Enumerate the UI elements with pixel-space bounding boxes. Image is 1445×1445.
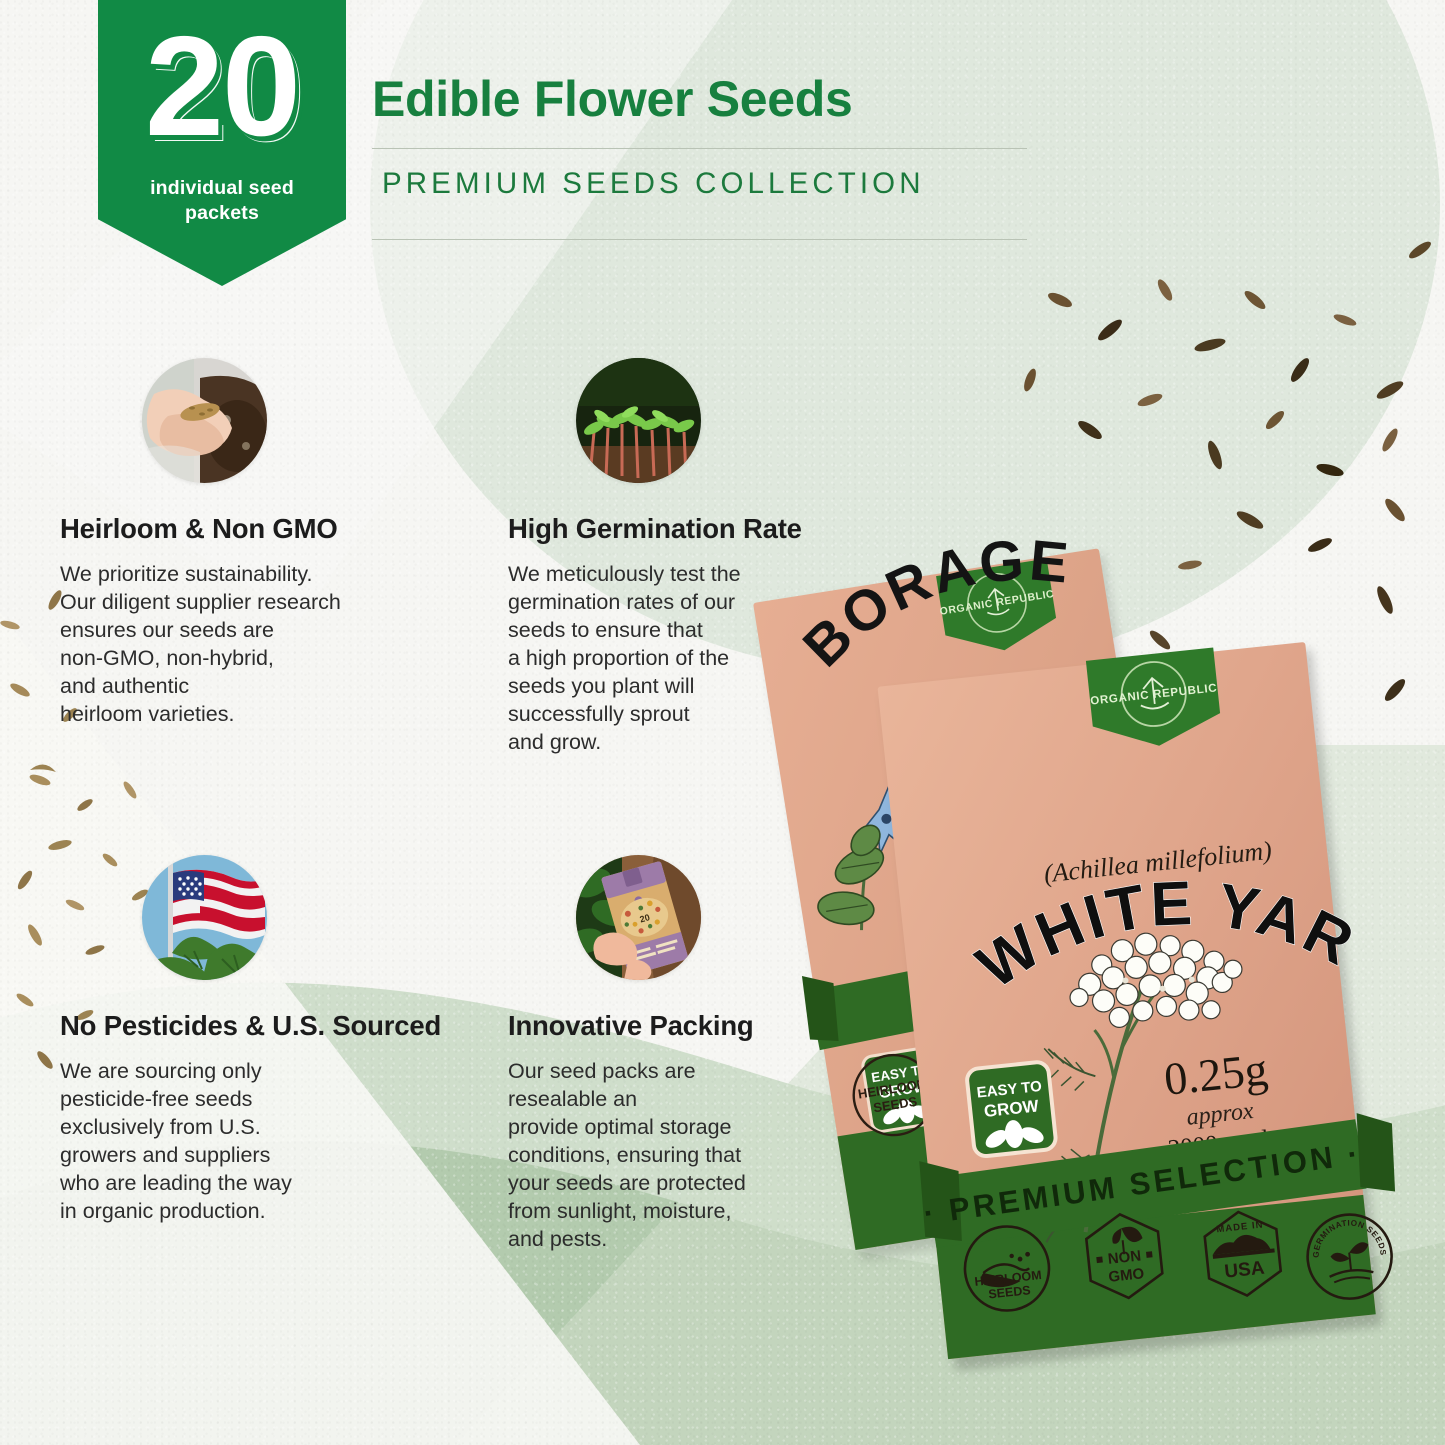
seed-pack-in-hand-icon: 20 [576,855,701,980]
feature-title: No Pesticides & U.S. Sourced [60,1010,460,1042]
seed-packets-product-photo: ORGANIC REPUBLIC BORAGE (Bora [790,500,1445,1320]
packet-white-yarrow: ORGANIC REPUBLIC WHITE YARROW (Achillea … [837,577,1413,1374]
hand-holding-seeds-icon [142,358,267,483]
badge-subtitle-line2: packets [185,202,259,224]
feature-no-pesticides-us-sourced: No Pesticides & U.S. Sourced We are sour… [60,855,460,1226]
title-divider-bottom [372,239,1027,240]
feature-body: We prioritize sustainability. Our dilige… [60,561,460,729]
badge-subtitle: individual seed packets [150,176,294,227]
usa-flag-icon [142,855,267,980]
header-block: Edible Flower Seeds PREMIUM SEEDS COLLEC… [372,72,1052,240]
svg-text:USA: USA [1223,1258,1265,1283]
feature-body: We are sourcing only pesticide-free seed… [60,1058,460,1226]
page-subtitle: PREMIUM SEEDS COLLECTION [372,149,1052,217]
feature-title: Heirloom & Non GMO [60,513,460,545]
badge-subtitle-line1: individual seed [150,177,294,199]
badge-count-number: 20 [145,16,299,158]
page-title: Edible Flower Seeds [372,72,1052,126]
feature-heirloom-non-gmo: Heirloom & Non GMO We prioritize sustain… [60,358,460,729]
easy-to-grow-badge-yarrow: EASY TO GROW [966,1061,1057,1157]
svg-text:NON: NON [1107,1247,1142,1267]
packet-weight: 0.25g [1162,1043,1270,1105]
seedling-sprouts-icon [576,358,701,483]
